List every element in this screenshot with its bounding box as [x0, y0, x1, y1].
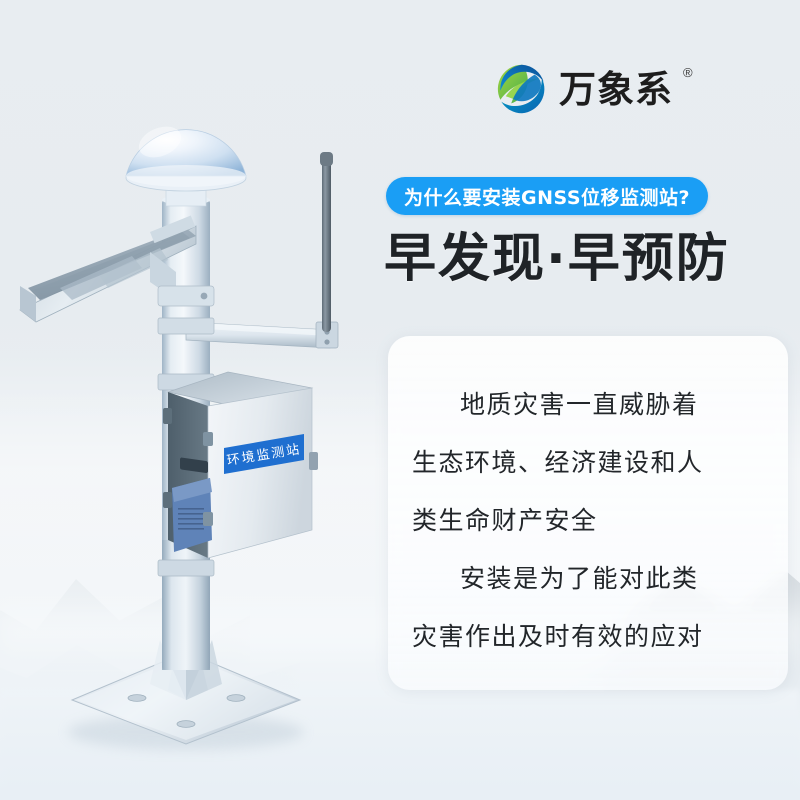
- registered-trademark-mark: ®: [683, 65, 693, 80]
- body-text-card: 地质灾害一直威胁着 生态环境、经济建设和人 类生命财产安全 安装是为了能对此类 …: [388, 336, 788, 690]
- gnss-monitoring-station-illustration: 环境监测站: [0, 0, 420, 800]
- question-banner-text: 为什么要安装GNSS位移监测站?: [404, 183, 690, 210]
- pole-clamp-lower: [158, 560, 214, 576]
- pole-clamp-upper: [158, 318, 214, 334]
- question-banner: 为什么要安装GNSS位移监测站?: [386, 177, 708, 215]
- enclosure-latch-bottom: [203, 512, 213, 526]
- enclosure-hinge-bottom: [163, 492, 172, 508]
- base-bolt-hole-left: [128, 695, 146, 702]
- support-pole-lower: [162, 540, 210, 670]
- body-line-4: 安装是为了能对此类: [388, 550, 788, 608]
- body-line-5: 灾害作出及时有效的应对: [388, 608, 788, 666]
- poster-canvas: 环境监测站: [0, 0, 800, 800]
- brand-logo: 万象系 ®: [495, 62, 693, 116]
- body-line-3: 类生命财产安全: [388, 492, 788, 550]
- base-bolt-hole-right: [227, 695, 245, 702]
- enclosure-latch-top: [203, 432, 213, 446]
- page-headline: 早发现·早预防: [384, 230, 730, 290]
- equipment-enclosure: 环境监测站: [163, 372, 318, 558]
- enclosure-hinge-top: [163, 408, 172, 424]
- content-column: 万象系 ® 为什么要安装GNSS位移监测站? 早发现·早预防 地质灾害一直威胁着…: [370, 0, 800, 800]
- globe-swoosh-logo-icon: [495, 62, 549, 116]
- body-line-1: 地质灾害一直威胁着: [388, 376, 788, 434]
- body-line-2: 生态环境、经济建设和人: [388, 434, 788, 492]
- whip-antenna: [320, 152, 333, 332]
- enclosure-lock: [309, 452, 318, 470]
- brand-name: 万象系: [559, 71, 673, 108]
- gnss-antenna-dome: [126, 121, 246, 206]
- base-bolt-hole-front: [177, 721, 195, 728]
- body-text-lines: 地质灾害一直威胁着 生态环境、经济建设和人 类生命财产安全 安装是为了能对此类 …: [388, 376, 788, 666]
